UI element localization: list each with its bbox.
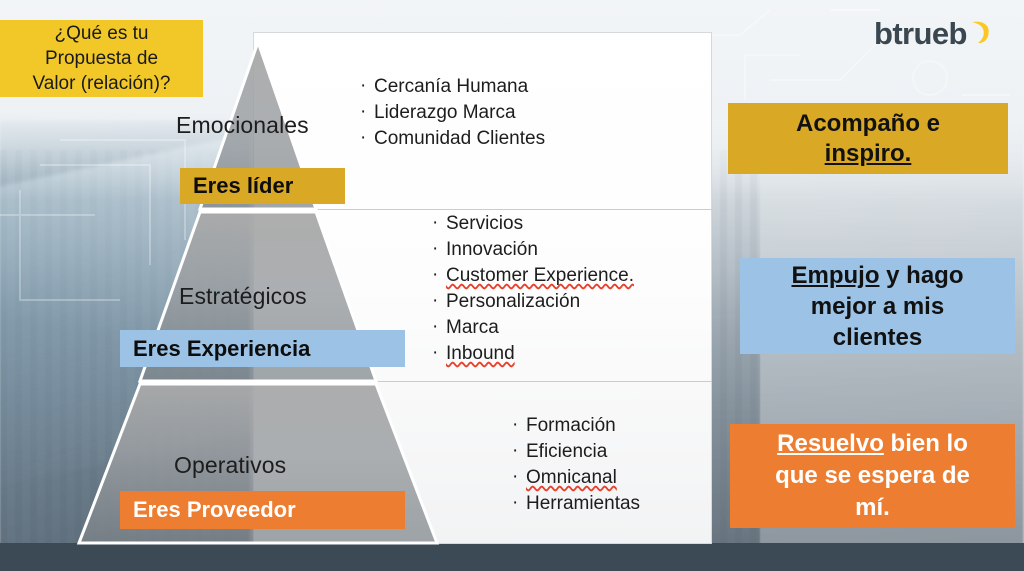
callout-line: inspiro. xyxy=(825,139,912,169)
callout-estrategicos[interactable]: Empujo y hagomejor a misclientes xyxy=(740,258,1015,354)
logo-wordmark: btrueb xyxy=(874,18,967,50)
callout-text: clientes xyxy=(833,324,922,351)
slide-title-box: ¿Qué es tu Propuesta de Valor (relación)… xyxy=(0,20,203,97)
callout-line: mí. xyxy=(855,492,890,524)
callout-line: Resuelvo bien lo xyxy=(777,428,968,460)
bullet-list-emocionales: Cercanía HumanaLiderazgo MarcaComunidad … xyxy=(360,74,545,152)
title-line: Valor (relación)? xyxy=(33,71,171,96)
callout-emphasis: Empujo xyxy=(791,262,879,289)
tier-name-operativos: Operativos xyxy=(174,452,286,479)
bullet-list-operativos: FormaciónEficienciaOmnicanalHerramientas xyxy=(512,413,640,517)
bullet-items: ServiciosInnovaciónCustomer Experience.P… xyxy=(432,211,634,367)
crescent-swoosh-icon xyxy=(968,19,992,45)
bullet-item: Customer Experience. xyxy=(432,263,634,289)
bullet-item: Liderazgo Marca xyxy=(360,100,545,126)
badge-eres-experiencia[interactable]: Eres Experiencia xyxy=(120,330,405,367)
callout-text: y hago xyxy=(879,262,963,289)
callout-emphasis: Resuelvo xyxy=(777,430,884,457)
callout-line: Empujo y hago xyxy=(791,260,963,291)
callout-emphasis: inspiro. xyxy=(825,140,912,167)
callout-operativos[interactable]: Resuelvo bien loque se espera demí. xyxy=(730,424,1015,528)
callout-text: que se espera de xyxy=(775,462,970,489)
slide-canvas: Emocionales Estratégicos Operativos Eres… xyxy=(0,0,1024,571)
panel-divider-2 xyxy=(253,381,712,382)
brand-logo[interactable]: btrueb xyxy=(874,18,992,50)
bullet-item: Personalización xyxy=(432,289,634,315)
bullet-item: Formación xyxy=(512,413,640,439)
bullet-items: Cercanía HumanaLiderazgo MarcaComunidad … xyxy=(360,74,545,152)
bullet-list-estrategicos: ServiciosInnovaciónCustomer Experience.P… xyxy=(432,211,634,367)
callout-text: Acompaño e xyxy=(796,110,940,137)
callout-line: que se espera de xyxy=(775,460,970,492)
bullet-item: Herramientas xyxy=(512,491,640,517)
callout-text: mejor a mis xyxy=(811,293,944,320)
badge-eres-proveedor[interactable]: Eres Proveedor xyxy=(120,491,405,529)
callout-text: bien lo xyxy=(884,430,968,457)
bullet-item: Comunidad Clientes xyxy=(360,126,545,152)
bullet-item: Omnicanal xyxy=(512,465,640,491)
callout-text: mí. xyxy=(855,494,890,521)
bullet-items: FormaciónEficienciaOmnicanalHerramientas xyxy=(512,413,640,517)
bullet-item: Eficiencia xyxy=(512,439,640,465)
tier-name-estrategicos: Estratégicos xyxy=(179,283,307,310)
tier-name-emocionales: Emocionales xyxy=(176,112,309,139)
callout-line: clientes xyxy=(833,322,922,353)
bullet-item: Cercanía Humana xyxy=(360,74,545,100)
panel-divider-1 xyxy=(253,209,712,210)
title-line: Propuesta de xyxy=(45,46,158,71)
title-line: ¿Qué es tu xyxy=(55,21,149,46)
bullet-item: Innovación xyxy=(432,237,634,263)
badge-eres-lider[interactable]: Eres líder xyxy=(180,168,345,204)
footer-bar xyxy=(0,543,1024,571)
callout-emocionales[interactable]: Acompaño einspiro. xyxy=(728,103,1008,174)
bullet-item: Servicios xyxy=(432,211,634,237)
bullet-item: Inbound xyxy=(432,341,634,367)
callout-line: Acompaño e xyxy=(796,109,940,139)
callout-line: mejor a mis xyxy=(811,291,944,322)
bullet-item: Marca xyxy=(432,315,634,341)
